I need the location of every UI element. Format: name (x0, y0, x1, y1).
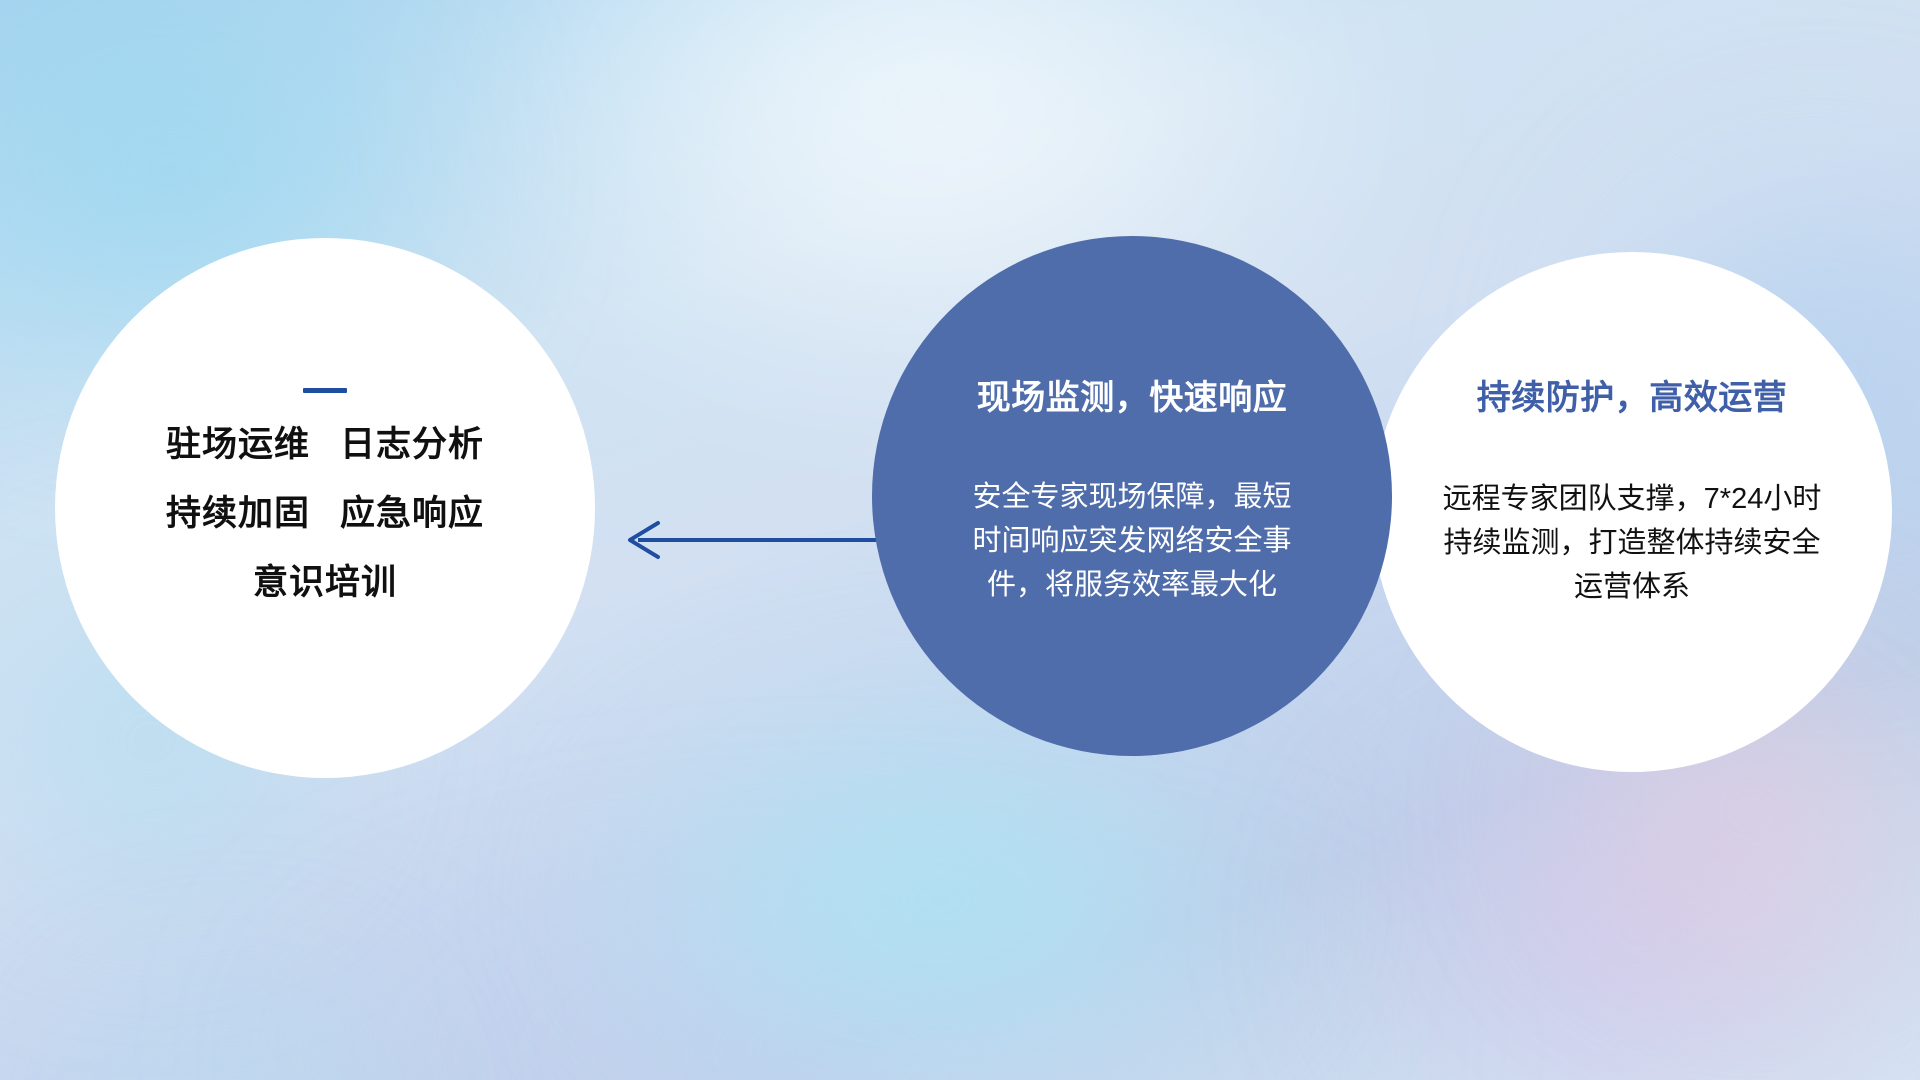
continuous-protection-circle[interactable]: 持续防护，高效运营 远程专家团队支撑，7*24小时持续监测，打造整体持续安全运营… (1372, 252, 1892, 772)
onsite-monitoring-body: 安全专家现场保障，最短时间响应突发网络安全事件，将服务效率最大化 (967, 475, 1297, 607)
continuous-protection-title: 持续防护，高效运营 (1477, 370, 1788, 419)
continuous-protection-body: 远程专家团队支撑，7*24小时持续监测，打造整体持续安全运营体系 (1432, 477, 1832, 609)
keyword-rizhifenxi: 日志分析 (340, 425, 484, 464)
onsite-monitoring-title: 现场监测，快速响应 (977, 370, 1288, 419)
keyword-row-3: 意识培训 (253, 565, 397, 600)
keyword-yishipeixun: 意识培训 (253, 563, 397, 602)
slide-canvas: 驻场运维日志分析 持续加固应急响应 意识培训 持续防护，高效运营 远程专家团队支… (0, 0, 1920, 1080)
keyword-zhuchangyunwei: 驻场运维 (166, 425, 310, 464)
keyword-row-2: 持续加固应急响应 (166, 496, 484, 531)
capability-keywords-circle[interactable]: 驻场运维日志分析 持续加固应急响应 意识培训 (55, 238, 595, 778)
onsite-monitoring-circle[interactable]: 现场监测，快速响应 安全专家现场保障，最短时间响应突发网络安全事件，将服务效率最… (872, 236, 1392, 756)
keyword-yingjixiangying: 应急响应 (340, 494, 484, 533)
keyword-chixujiagu: 持续加固 (166, 494, 310, 533)
divider-dash-icon (303, 388, 347, 393)
keyword-row-1: 驻场运维日志分析 (166, 427, 484, 462)
